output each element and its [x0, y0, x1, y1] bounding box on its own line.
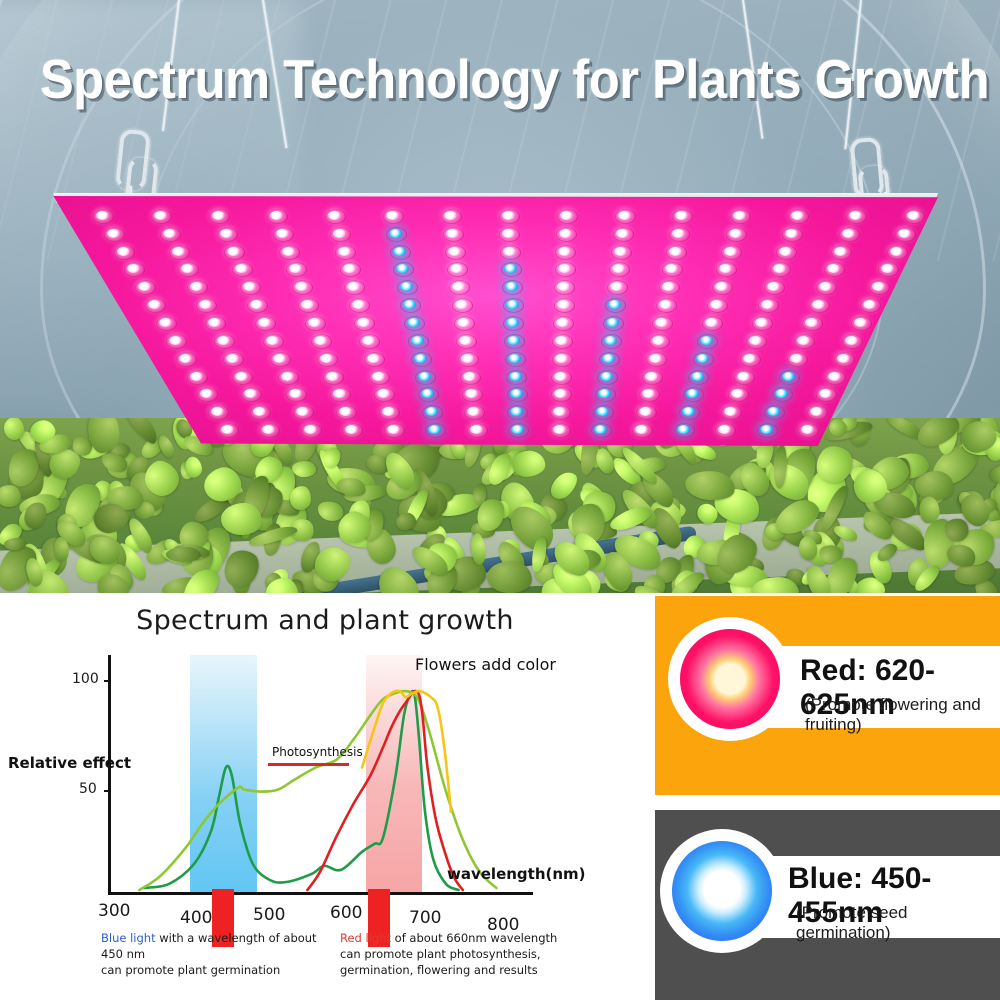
led-red — [645, 372, 658, 381]
led-red — [362, 336, 375, 345]
flowers-add-color-annotation: Flowers add color — [415, 655, 556, 674]
led-blue — [507, 336, 520, 345]
led-red — [179, 354, 192, 363]
red-wavelength-band — [366, 655, 422, 892]
led-red — [614, 247, 627, 256]
led-red — [457, 318, 470, 327]
led-red — [273, 354, 286, 363]
led-red — [785, 229, 798, 238]
led-red — [558, 247, 571, 256]
led-red — [556, 318, 569, 327]
led-red — [559, 229, 572, 238]
led-red — [320, 354, 333, 363]
led-red — [367, 354, 380, 363]
led-red — [304, 425, 317, 434]
led-red — [212, 211, 225, 220]
led-blue — [600, 372, 613, 381]
blue-light-note-highlight: Blue light — [101, 931, 156, 945]
led-red — [314, 336, 327, 345]
led-red — [308, 318, 321, 327]
led-blue — [691, 372, 704, 381]
hero-photo: Spectrum Technology for Plants Growth — [0, 0, 1000, 593]
led-red — [618, 211, 631, 220]
led-blue — [508, 354, 521, 363]
led-red — [190, 372, 203, 381]
leaf — [165, 547, 200, 562]
led-blue — [411, 336, 424, 345]
card-blue-spectrum: Blue: 450-455nm (Promote seed germinatio… — [655, 810, 1000, 1000]
led-blue — [393, 247, 406, 256]
red-light-note: Red light of about 660nm wavelength can … — [340, 931, 570, 979]
led-blue — [604, 336, 617, 345]
led-red — [503, 247, 516, 256]
led-red — [715, 282, 728, 291]
red-led-bulb-icon — [671, 620, 789, 738]
spectrum-chart-panel: Spectrum and plant growth 100 50 Relativ… — [0, 593, 650, 1000]
card-blue-subtitle: (Promote seed germination) — [796, 903, 1000, 943]
led-red — [502, 211, 515, 220]
led-red — [227, 247, 240, 256]
led-blue — [682, 407, 695, 416]
led-red — [470, 425, 483, 434]
led-blue — [509, 372, 522, 381]
page-title: Spectrum Technology for Plants Growth — [40, 52, 960, 107]
led-red — [276, 229, 289, 238]
led-red — [828, 372, 841, 381]
led-red — [217, 336, 230, 345]
led-red — [907, 211, 920, 220]
led-red — [672, 229, 685, 238]
led-blue — [414, 354, 427, 363]
led-red — [755, 318, 768, 327]
led-blue — [602, 354, 615, 363]
photosynthesis-underline — [268, 763, 349, 766]
led-red — [669, 247, 682, 256]
blue-wavelength-band — [190, 655, 257, 892]
red-light-note-highlight: Red light — [340, 931, 391, 945]
led-red — [459, 336, 472, 345]
led-red — [172, 247, 185, 256]
led-red — [159, 318, 172, 327]
led-red — [258, 318, 271, 327]
y-tick-label-100: 100 — [72, 671, 650, 687]
led-red — [282, 247, 295, 256]
x-tick-label-700: 700 — [409, 908, 441, 928]
led-red — [779, 247, 792, 256]
led-red — [328, 211, 341, 220]
led-red — [461, 354, 474, 363]
led-red — [553, 425, 566, 434]
led-blue — [760, 425, 773, 434]
led-red — [281, 372, 294, 381]
led-red — [890, 247, 903, 256]
led-red — [107, 229, 120, 238]
led-red — [387, 425, 400, 434]
led-red — [554, 372, 567, 381]
led-blue — [506, 300, 519, 309]
red-light-note-line3: germination, flowering and results — [340, 963, 538, 977]
red-light-note-line1: of about 660nm wavelength — [391, 931, 557, 945]
led-red — [333, 229, 346, 238]
x-tick-label-400: 400 — [180, 908, 212, 928]
led-red — [444, 211, 457, 220]
card-red-subtitle: (Promote flowering and fruiting) — [805, 695, 1000, 735]
y-axis-title: Relative effect — [8, 754, 131, 772]
led-red — [163, 229, 176, 238]
led-blue — [782, 372, 795, 381]
led-red — [743, 354, 756, 363]
led-red — [270, 211, 283, 220]
led-red — [448, 247, 461, 256]
led-red — [338, 247, 351, 256]
led-red — [220, 229, 233, 238]
led-blue — [389, 229, 402, 238]
led-red — [797, 336, 810, 345]
led-red — [154, 211, 167, 220]
product-infographic: Spectrum Technology for Plants Growth Sp… — [0, 0, 1000, 1000]
led-red — [616, 229, 629, 238]
red-light-note-line2: can promote plant photosynthesis, — [340, 947, 541, 961]
blue-light-note-line2: can promote plant germination — [101, 963, 280, 977]
led-red — [724, 247, 737, 256]
led-red — [463, 372, 476, 381]
led-red — [117, 247, 130, 256]
y-tick-label-50: 50 — [79, 781, 650, 797]
x-tick-label-300: 300 — [98, 901, 130, 921]
led-blue — [425, 407, 438, 416]
led-red — [749, 336, 762, 345]
led-red — [560, 211, 573, 220]
x-tick-label-500: 500 — [253, 905, 285, 925]
x-axis — [108, 892, 533, 895]
led-red — [455, 300, 468, 309]
photosynthesis-annotation: Photosynthesis — [272, 745, 363, 759]
led-blue — [418, 372, 431, 381]
led-red — [555, 354, 568, 363]
led-red — [834, 247, 847, 256]
led-red — [266, 336, 279, 345]
led-red — [96, 211, 109, 220]
led-blue — [594, 425, 607, 434]
led-red — [557, 300, 570, 309]
led-red — [737, 372, 750, 381]
leaf — [221, 503, 262, 536]
led-red — [652, 336, 665, 345]
led-red — [221, 425, 234, 434]
leaf — [289, 485, 312, 510]
led-blue — [608, 300, 621, 309]
chart-title: Spectrum and plant growth — [0, 605, 650, 636]
led-red — [446, 229, 459, 238]
led-red — [386, 211, 399, 220]
led-blue — [696, 354, 709, 363]
led-red — [649, 354, 662, 363]
blue-led-bulb-icon — [663, 832, 781, 950]
led-red — [659, 300, 672, 309]
led-red — [226, 354, 239, 363]
led-red — [837, 354, 850, 363]
led-red — [790, 354, 803, 363]
led-red — [842, 229, 855, 238]
led-red — [235, 372, 248, 381]
led-red — [372, 372, 385, 381]
x-tick-label-600: 600 — [330, 903, 362, 923]
led-blue — [407, 318, 420, 327]
blue-light-note: Blue light with a wavelength of about 45… — [101, 931, 326, 979]
x-axis-title: wavelength(nm) — [447, 865, 586, 883]
led-red — [710, 300, 723, 309]
led-panel-board — [48, 196, 938, 446]
led-red — [805, 318, 818, 327]
led-red — [169, 336, 182, 345]
led-red — [898, 229, 911, 238]
y-axis — [108, 655, 111, 895]
led-red — [243, 282, 256, 291]
led-red — [729, 229, 742, 238]
led-red — [211, 407, 224, 416]
led-blue — [606, 318, 619, 327]
card-red-spectrum: Red: 620-625nm (Promote flowering and fr… — [655, 596, 1000, 795]
led-blue — [677, 425, 690, 434]
led-red — [326, 372, 339, 381]
